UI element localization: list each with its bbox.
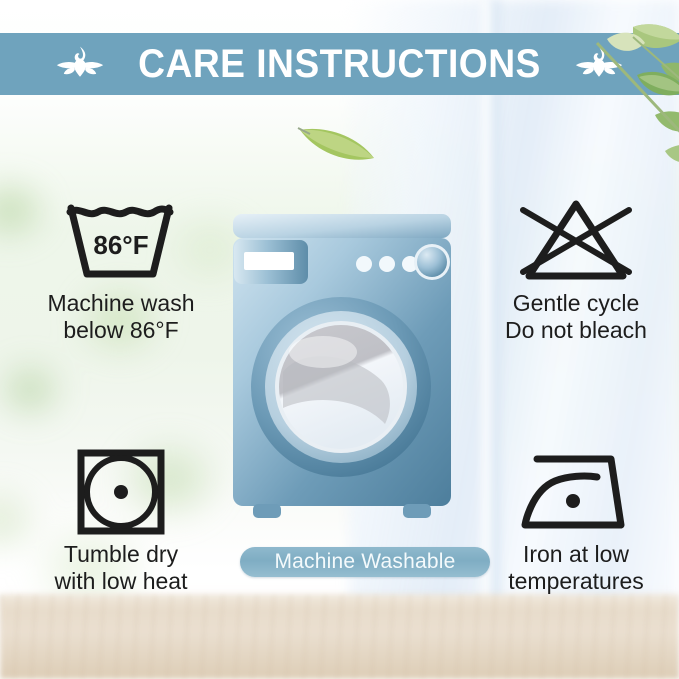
wood-grain-texture	[0, 595, 679, 679]
instruction-caption: Tumble dry with low heat	[18, 541, 224, 595]
instruction-gentle-cycle-no-bleach: Gentle cycle Do not bleach	[478, 192, 674, 344]
instruction-caption: Iron at low temperatures	[478, 541, 674, 595]
instruction-iron-low-temp: Iron at low temperatures	[478, 443, 674, 595]
fleur-de-lis-icon-left	[51, 42, 109, 86]
care-instructions-infographic: CARE INSTRUCTIONS	[0, 0, 679, 679]
instruction-caption: Machine wash below 86°F	[18, 290, 224, 344]
instruction-caption: Gentle cycle Do not bleach	[478, 290, 674, 344]
crossed-triangle-icon	[478, 192, 674, 284]
machine-washable-badge: Machine Washable	[240, 547, 490, 577]
instruction-tumble-dry-low: Tumble dry with low heat	[18, 443, 224, 595]
badge-label: Machine Washable	[274, 550, 455, 574]
page-title: CARE INSTRUCTIONS	[138, 44, 541, 84]
floating-green-leaf-icon	[296, 118, 380, 170]
instruction-machine-wash: 86°F Machine wash below 86°F	[18, 192, 224, 344]
tumble-dry-square-icon	[18, 443, 224, 535]
wash-tub-icon: 86°F	[18, 192, 224, 284]
fleur-de-lis-icon-right	[570, 42, 628, 86]
washing-machine-illustration	[231, 212, 453, 532]
wash-temperature-value: 86°F	[93, 230, 148, 260]
iron-icon	[478, 443, 674, 535]
header-banner: CARE INSTRUCTIONS	[0, 33, 679, 95]
